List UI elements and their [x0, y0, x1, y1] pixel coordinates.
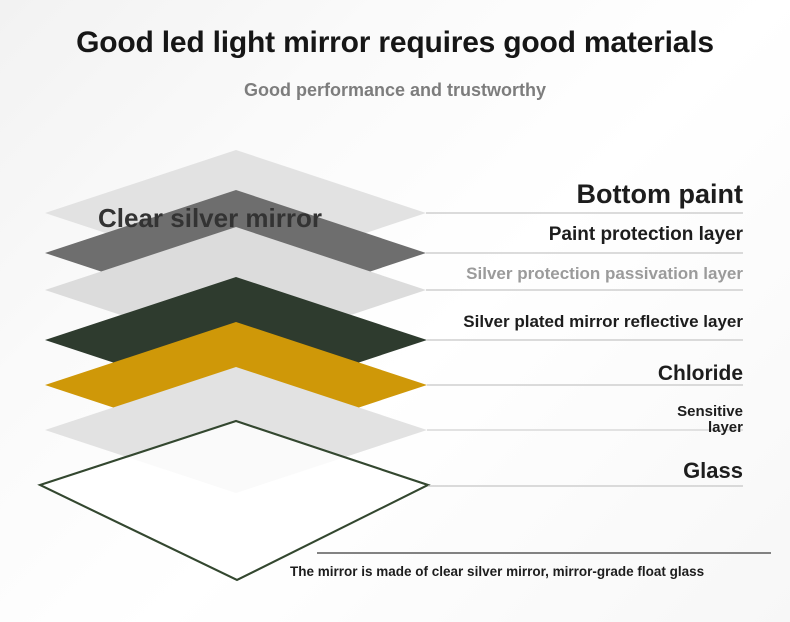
layer-stack-diagram — [0, 0, 790, 622]
layer-label-sensitive-line1: Sensitive — [677, 404, 743, 420]
layer-label-silver-passivation: Silver protection passivation layer — [466, 265, 743, 283]
layer-label-glass: Glass — [683, 459, 743, 483]
layer-label-bottom-paint: Bottom paint — [577, 180, 743, 209]
diagram-caption: The mirror is made of clear silver mirro… — [290, 564, 704, 579]
stack-title: Clear silver mirror — [98, 203, 322, 234]
layer-label-silver-plated: Silver plated mirror reflective layer — [463, 313, 743, 331]
layer-label-sensitive-line2: layer — [677, 420, 743, 436]
layer-label-paint-protection: Paint protection layer — [549, 225, 743, 246]
diagram-page: Good led light mirror requires good mate… — [0, 0, 790, 622]
layer-label-chloride: Chloride — [658, 363, 743, 386]
layer-label-sensitive-layer: Sensitive layer — [677, 404, 743, 436]
